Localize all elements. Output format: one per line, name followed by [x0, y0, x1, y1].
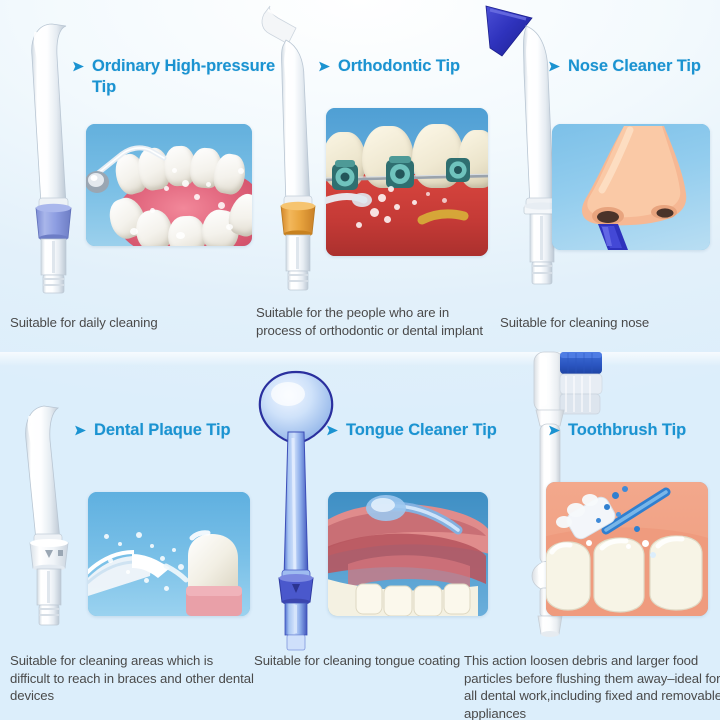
photo-tongue-scraping	[328, 492, 488, 616]
heading-nose-cleaner-tip: Nose Cleaner Tip	[548, 56, 720, 77]
arrow-bullet-icon	[326, 424, 339, 437]
photo-plaque-tip-tooth	[88, 492, 250, 616]
heading-label: Orthodontic Tip	[338, 56, 460, 77]
heading-toothbrush-tip: Toothbrush Tip	[548, 420, 720, 441]
caption-toothbrush-tip: This action loosen debris and larger foo…	[464, 652, 720, 720]
photo-brush-on-molars	[546, 482, 708, 616]
scene-teeth-water-jet	[86, 124, 252, 246]
scene-tongue-scraping	[328, 492, 488, 616]
photo-nose-irrigation	[552, 124, 710, 250]
heading-dental-plaque-tip: Dental Plaque Tip	[74, 420, 259, 441]
arrow-bullet-icon	[74, 424, 87, 437]
caption-ordinary-high-pressure-tip: Suitable for daily cleaning	[10, 314, 240, 332]
heading-label: Dental Plaque Tip	[94, 420, 230, 441]
arrow-bullet-icon	[548, 424, 561, 437]
caption-dental-plaque-tip: Suitable for cleaning areas which is dif…	[10, 652, 254, 705]
photo-teeth-water-jet	[86, 124, 252, 246]
photo-braces-bracket-cleaning	[326, 108, 488, 256]
scene-braces-bracket-cleaning	[326, 108, 488, 256]
heading-label: Toothbrush Tip	[568, 420, 686, 441]
caption-orthodontic-tip: Suitable for the people who are in proce…	[256, 304, 488, 339]
scene-brush-on-molars	[546, 482, 708, 616]
infographic-page: Ordinary High-pressure Tip	[0, 0, 720, 720]
arrow-bullet-icon	[548, 60, 561, 73]
arrow-bullet-icon	[72, 60, 85, 73]
caption-tongue-cleaner-tip: Suitable for cleaning tongue coating	[254, 652, 462, 670]
heading-tongue-cleaner-tip: Tongue Cleaner Tip	[326, 420, 516, 441]
caption-nose-cleaner-tip: Suitable for cleaning nose	[500, 314, 715, 332]
arrow-bullet-icon	[318, 60, 331, 73]
scene-nose-irrigation	[552, 124, 710, 250]
heading-label: Tongue Cleaner Tip	[346, 420, 497, 441]
heading-label: Nose Cleaner Tip	[568, 56, 701, 77]
scene-plaque-tip-tooth	[88, 492, 250, 616]
